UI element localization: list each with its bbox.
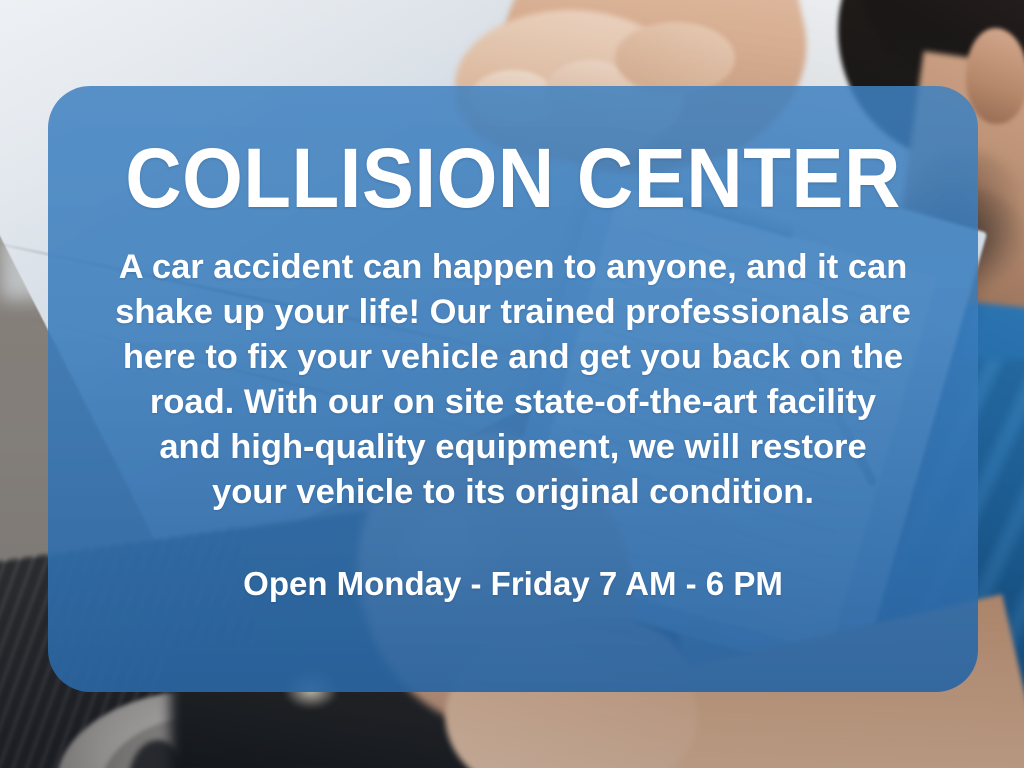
body-line: your vehicle to its original condition. xyxy=(115,470,911,515)
body-line: here to fix your vehicle and get you bac… xyxy=(115,335,911,380)
body-copy: A car accident can happen to anyone, and… xyxy=(115,245,911,515)
body-line: shake up your life! Our trained professi… xyxy=(115,290,911,335)
body-line: road. With our on site state-of-the-art … xyxy=(115,380,911,425)
business-hours: Open Monday - Friday 7 AM - 6 PM xyxy=(243,563,783,605)
collision-center-poster: COLLISION CENTER A car accident can happ… xyxy=(0,0,1024,768)
page-title: COLLISION CENTER xyxy=(125,138,901,219)
blue-overlay-panel: COLLISION CENTER A car accident can happ… xyxy=(48,86,978,692)
body-line: A car accident can happen to anyone, and… xyxy=(115,245,911,290)
body-line: and high-quality equipment, we will rest… xyxy=(115,425,911,470)
